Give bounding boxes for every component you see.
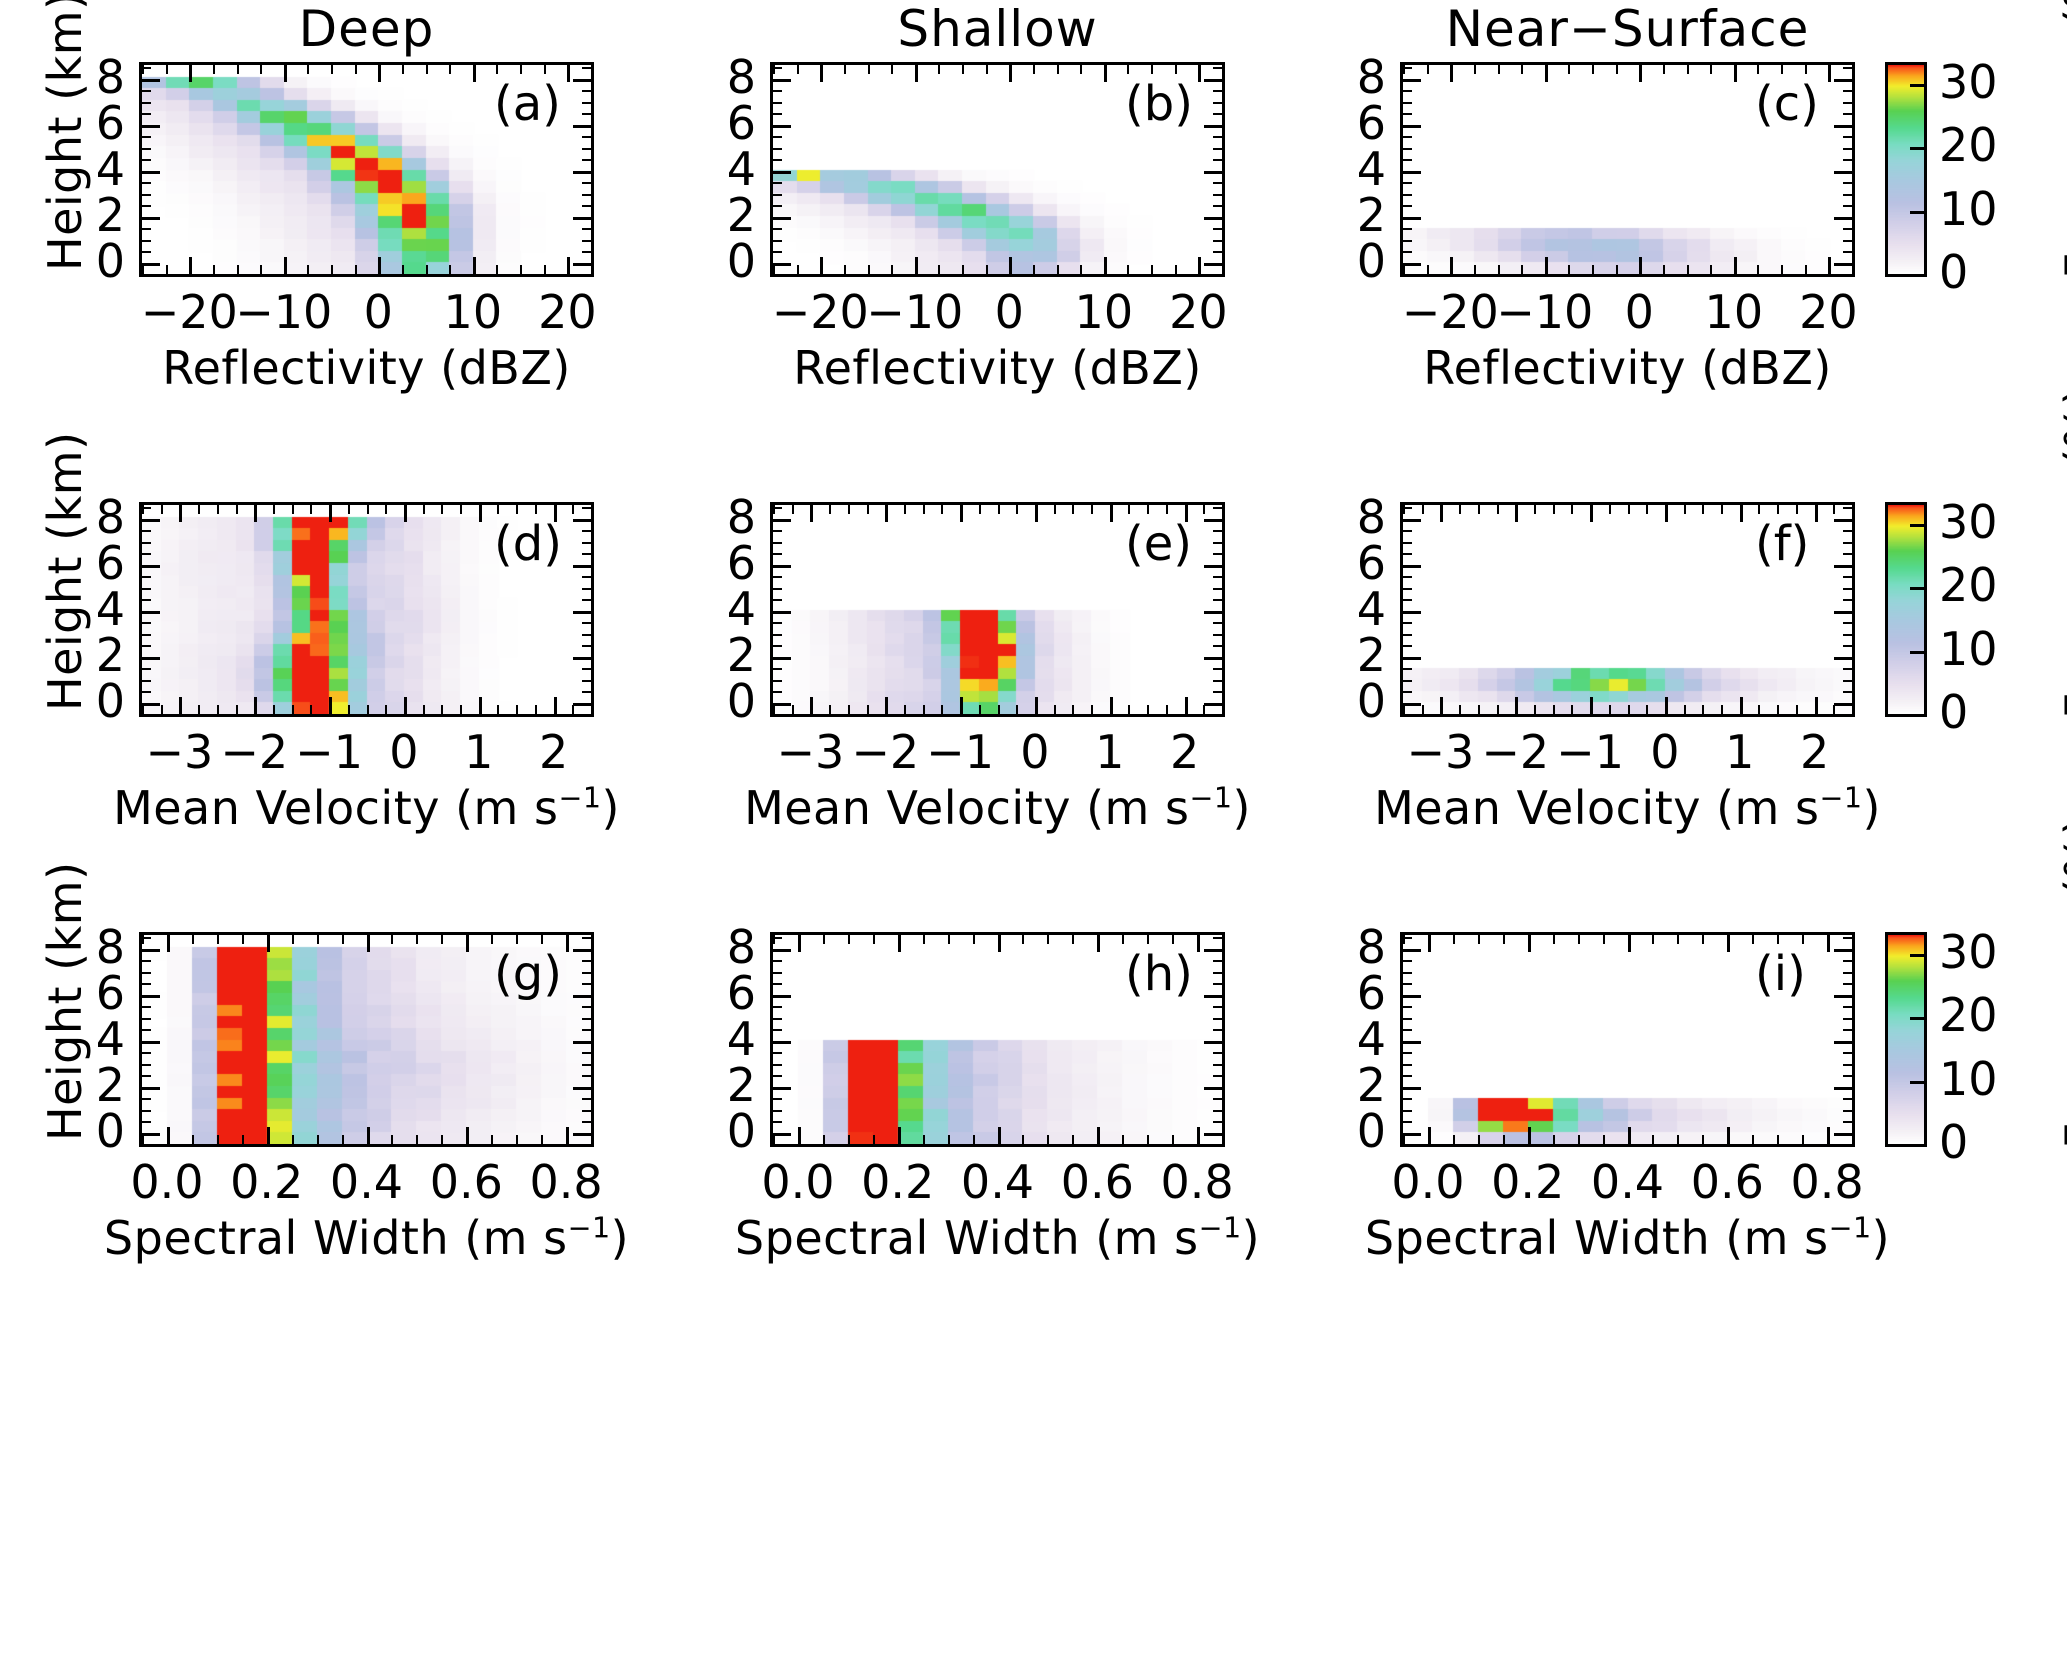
x-major-tick <box>898 1127 901 1144</box>
colorbar-tick-label: 20 <box>1939 988 1998 1042</box>
y-major-tick <box>1204 519 1222 522</box>
x-minor-tick <box>1757 265 1759 274</box>
y-major-tick <box>1403 171 1421 174</box>
x-minor-tick <box>1478 705 1480 714</box>
x-minor-tick <box>1172 1135 1174 1144</box>
x-major-tick <box>1515 505 1518 522</box>
y-minor-tick <box>1403 668 1412 670</box>
colorbar-gradient <box>1888 65 1924 274</box>
y-axis-label: Height (km) <box>38 861 92 1141</box>
y-major-tick <box>773 1087 791 1090</box>
x-major-tick <box>1097 935 1100 952</box>
column-title-shallow: Shallow <box>770 0 1225 58</box>
y-major-tick <box>573 565 591 568</box>
x-minor-tick <box>441 705 443 714</box>
y-minor-tick <box>582 1075 591 1077</box>
x-minor-tick <box>1603 1135 1605 1144</box>
x-major-tick <box>378 257 381 274</box>
colorbar <box>1885 62 1927 277</box>
panel-label-g: (g) <box>494 946 562 1002</box>
x-major-tick <box>1110 505 1113 522</box>
x-minor-tick <box>938 65 940 74</box>
x-minor-tick <box>848 705 850 714</box>
y-major-tick <box>573 217 591 220</box>
x-major-tick <box>284 257 287 274</box>
x-minor-tick <box>1128 705 1130 714</box>
x-axis-label: Reflectivity (dBZ) <box>1340 341 1915 395</box>
x-minor-tick <box>292 1135 294 1144</box>
x-minor-tick <box>541 1135 543 1144</box>
x-minor-tick <box>923 705 925 714</box>
x-minor-tick <box>142 705 144 714</box>
y-tick-label: 8 <box>696 920 756 974</box>
y-major-tick <box>773 1041 791 1044</box>
y-major-tick <box>1403 263 1421 266</box>
x-minor-tick <box>844 265 846 274</box>
colorbar-tick-label: 20 <box>1939 118 1998 172</box>
y-minor-tick <box>1843 983 1852 985</box>
x-major-tick <box>473 257 476 274</box>
y-minor-tick <box>1403 507 1412 509</box>
x-minor-tick <box>1702 505 1704 514</box>
y-major-tick <box>142 217 160 220</box>
y-major-tick <box>773 611 791 614</box>
y-minor-tick <box>582 960 591 962</box>
x-minor-tick <box>962 265 964 274</box>
y-minor-tick <box>1213 507 1222 509</box>
y-minor-tick <box>773 680 782 682</box>
y-minor-tick <box>773 228 782 230</box>
y-minor-tick <box>773 622 782 624</box>
y-minor-tick <box>1213 1052 1222 1054</box>
y-minor-tick <box>773 67 782 69</box>
y-minor-tick <box>142 983 151 985</box>
x-axis-label: Mean Velocity (m s−1) <box>710 781 1285 835</box>
y-minor-tick <box>582 67 591 69</box>
y-major-tick <box>573 949 591 952</box>
y-minor-tick <box>582 553 591 555</box>
y-minor-tick <box>1403 136 1412 138</box>
x-axis-label: Mean Velocity (m s−1) <box>1340 781 1915 835</box>
y-minor-tick <box>773 588 782 590</box>
y-minor-tick <box>582 1052 591 1054</box>
y-major-tick <box>1834 611 1852 614</box>
x-minor-tick <box>1166 505 1168 514</box>
y-minor-tick <box>1403 530 1412 532</box>
x-minor-tick <box>166 65 168 74</box>
panel-label-c: (c) <box>1755 76 1819 132</box>
colorbar-tick-label: 0 <box>1939 685 1968 739</box>
x-minor-tick <box>1503 1135 1505 1144</box>
y-minor-tick <box>773 194 782 196</box>
x-minor-tick <box>1151 265 1153 274</box>
y-minor-tick <box>1403 680 1412 682</box>
y-minor-tick <box>142 553 151 555</box>
y-minor-tick <box>1843 542 1852 544</box>
x-minor-tick <box>1474 65 1476 74</box>
y-minor-tick <box>1843 645 1852 647</box>
x-major-tick <box>885 505 888 522</box>
y-tick-label: 6 <box>696 536 756 590</box>
y-minor-tick <box>1213 668 1222 670</box>
y-minor-tick <box>1213 102 1222 104</box>
y-minor-tick <box>582 972 591 974</box>
y-tick-label: 2 <box>696 1058 756 1112</box>
x-minor-tick <box>1578 1135 1580 1144</box>
x-minor-tick <box>1578 935 1580 944</box>
x-minor-tick <box>402 265 404 274</box>
x-major-tick <box>1009 257 1012 274</box>
x-major-tick <box>1734 65 1737 82</box>
x-minor-tick <box>317 1135 319 1144</box>
y-tick-label: 8 <box>1326 50 1386 104</box>
x-major-tick <box>566 935 569 952</box>
y-major-tick <box>573 125 591 128</box>
y-minor-tick <box>1213 205 1222 207</box>
y-minor-tick <box>1403 542 1412 544</box>
y-minor-tick <box>582 1006 591 1008</box>
x-minor-tick <box>998 705 1000 714</box>
x-minor-tick <box>1796 505 1798 514</box>
column-title-nearsurface: Near−Surface <box>1400 0 1855 58</box>
y-major-tick <box>1834 1133 1852 1136</box>
y-minor-tick <box>773 634 782 636</box>
x-minor-tick <box>1603 935 1605 944</box>
y-minor-tick <box>773 1018 782 1020</box>
x-minor-tick <box>848 935 850 944</box>
y-major-tick <box>1204 1087 1222 1090</box>
x-minor-tick <box>891 265 893 274</box>
x-minor-tick <box>1677 1135 1679 1144</box>
y-minor-tick <box>1213 113 1222 115</box>
x-minor-tick <box>460 705 462 714</box>
x-minor-tick <box>516 935 518 944</box>
x-tick-label: 2 <box>1125 725 1245 779</box>
x-minor-tick <box>1478 505 1480 514</box>
y-tick-label: 4 <box>696 142 756 196</box>
y-major-tick <box>1204 1133 1222 1136</box>
y-minor-tick <box>1403 576 1412 578</box>
x-minor-tick <box>497 705 499 714</box>
y-minor-tick <box>1843 1121 1852 1123</box>
y-tick-label: 0 <box>696 674 756 728</box>
x-minor-tick <box>1710 265 1712 274</box>
y-minor-tick <box>1213 240 1222 242</box>
x-minor-tick <box>1022 935 1024 944</box>
y-minor-tick <box>142 1029 151 1031</box>
x-major-tick <box>1628 935 1631 952</box>
y-minor-tick <box>1403 240 1412 242</box>
y-minor-tick <box>1403 622 1412 624</box>
x-minor-tick <box>941 705 943 714</box>
x-minor-tick <box>1503 935 1505 944</box>
y-tick-label: 0 <box>696 1104 756 1158</box>
x-minor-tick <box>1016 705 1018 714</box>
y-tick-label: 6 <box>1326 536 1386 590</box>
y-major-tick <box>573 79 591 82</box>
y-minor-tick <box>1403 645 1412 647</box>
x-minor-tick <box>391 935 393 944</box>
y-minor-tick <box>773 148 782 150</box>
y-major-tick <box>142 657 160 660</box>
x-major-tick <box>998 1127 1001 1144</box>
x-minor-tick <box>1072 705 1074 714</box>
x-minor-tick <box>1498 265 1500 274</box>
panel-label-f: (f) <box>1755 516 1809 572</box>
y-minor-tick <box>582 668 591 670</box>
y-minor-tick <box>582 240 591 242</box>
x-minor-tick <box>217 1135 219 1144</box>
y-major-tick <box>1834 1041 1852 1044</box>
y-minor-tick <box>1403 1110 1412 1112</box>
x-minor-tick <box>1459 505 1461 514</box>
x-minor-tick <box>797 65 799 74</box>
x-minor-tick <box>923 935 925 944</box>
x-minor-tick <box>1175 265 1177 274</box>
x-tick-label: 20 <box>1138 285 1258 339</box>
x-minor-tick <box>792 505 794 514</box>
y-minor-tick <box>1843 1029 1852 1031</box>
y-major-tick <box>573 1041 591 1044</box>
y-minor-tick <box>773 1121 782 1123</box>
x-minor-tick <box>1147 705 1149 714</box>
y-minor-tick <box>1213 251 1222 253</box>
y-major-tick <box>1403 565 1421 568</box>
y-minor-tick <box>773 937 782 939</box>
y-minor-tick <box>773 1029 782 1031</box>
y-minor-tick <box>773 960 782 962</box>
x-axis-label: Spectral Width (m s−1) <box>710 1211 1285 1265</box>
y-minor-tick <box>1213 136 1222 138</box>
y-minor-tick <box>142 680 151 682</box>
y-minor-tick <box>1843 668 1852 670</box>
y-minor-tick <box>1403 194 1412 196</box>
y-minor-tick <box>582 1098 591 1100</box>
x-minor-tick <box>591 1135 593 1144</box>
y-major-tick <box>1834 519 1852 522</box>
x-minor-tick <box>979 705 981 714</box>
x-minor-tick <box>867 705 869 714</box>
x-minor-tick <box>1047 935 1049 944</box>
x-minor-tick <box>591 935 593 944</box>
x-minor-tick <box>1422 705 1424 714</box>
x-major-tick <box>254 697 257 714</box>
x-minor-tick <box>496 65 498 74</box>
x-major-tick <box>1097 1127 1100 1144</box>
x-minor-tick <box>1553 935 1555 944</box>
y-minor-tick <box>1213 1064 1222 1066</box>
x-minor-tick <box>868 65 870 74</box>
x-minor-tick <box>904 705 906 714</box>
y-minor-tick <box>773 691 782 693</box>
y-tick-label: 2 <box>696 188 756 242</box>
x-minor-tick <box>385 505 387 514</box>
x-minor-tick <box>1203 505 1205 514</box>
x-minor-tick <box>1752 935 1754 944</box>
x-minor-tick <box>535 705 537 714</box>
y-major-tick <box>1403 703 1421 706</box>
x-minor-tick <box>273 705 275 714</box>
x-minor-tick <box>161 505 163 514</box>
x-major-tick <box>1198 257 1201 274</box>
y-major-tick <box>142 565 160 568</box>
y-minor-tick <box>1843 194 1852 196</box>
y-minor-tick <box>1213 1075 1222 1077</box>
x-tick-label: 2 <box>494 725 614 779</box>
x-minor-tick <box>1521 265 1523 274</box>
y-tick-label: 2 <box>1326 1058 1386 1112</box>
y-minor-tick <box>773 1098 782 1100</box>
x-minor-tick <box>242 935 244 944</box>
x-major-tick <box>1450 65 1453 82</box>
y-minor-tick <box>582 542 591 544</box>
colorbar-tick-label: 30 <box>1939 925 1998 979</box>
y-minor-tick <box>142 691 151 693</box>
y-minor-tick <box>1213 182 1222 184</box>
y-minor-tick <box>1843 67 1852 69</box>
x-major-tick <box>1828 257 1831 274</box>
y-minor-tick <box>1843 182 1852 184</box>
x-minor-tick <box>1033 265 1035 274</box>
x-major-tick <box>1197 935 1200 952</box>
panel-label-a: (a) <box>494 76 561 132</box>
y-minor-tick <box>1843 588 1852 590</box>
x-major-tick <box>1827 935 1830 952</box>
x-minor-tick <box>591 705 593 714</box>
y-major-tick <box>142 1133 160 1136</box>
y-minor-tick <box>1213 553 1222 555</box>
x-major-tick <box>1104 257 1107 274</box>
y-major-tick <box>1403 519 1421 522</box>
x-minor-tick <box>1646 505 1648 514</box>
x-major-tick <box>1815 697 1818 714</box>
x-major-tick <box>820 65 823 82</box>
x-minor-tick <box>986 265 988 274</box>
y-major-tick <box>1204 565 1222 568</box>
y-minor-tick <box>1213 588 1222 590</box>
x-minor-tick <box>1802 935 1804 944</box>
y-major-tick <box>1834 263 1852 266</box>
x-tick-label: 0.8 <box>506 1155 626 1209</box>
y-minor-tick <box>1403 691 1412 693</box>
x-major-tick <box>167 1127 170 1144</box>
y-minor-tick <box>773 983 782 985</box>
y-major-tick <box>573 657 591 660</box>
y-minor-tick <box>773 113 782 115</box>
y-minor-tick <box>142 194 151 196</box>
y-minor-tick <box>1213 576 1222 578</box>
y-major-tick <box>142 949 160 952</box>
y-minor-tick <box>1403 102 1412 104</box>
y-minor-tick <box>582 1018 591 1020</box>
y-minor-tick <box>1213 228 1222 230</box>
x-major-tick <box>798 1127 801 1144</box>
x-major-tick <box>378 65 381 82</box>
x-minor-tick <box>1796 705 1798 714</box>
y-major-tick <box>1834 657 1852 660</box>
y-major-tick <box>773 565 791 568</box>
x-axis-label: Spectral Width (m s−1) <box>1340 1211 1915 1265</box>
x-minor-tick <box>1072 505 1074 514</box>
x-major-tick <box>466 935 469 952</box>
x-minor-tick <box>1646 705 1648 714</box>
y-major-tick <box>1403 657 1421 660</box>
x-minor-tick <box>391 1135 393 1144</box>
y-major-tick <box>773 949 791 952</box>
x-minor-tick <box>307 265 309 274</box>
y-minor-tick <box>1403 148 1412 150</box>
y-minor-tick <box>1843 251 1852 253</box>
y-minor-tick <box>1403 1075 1412 1077</box>
y-minor-tick <box>1213 622 1222 624</box>
y-minor-tick <box>773 530 782 532</box>
x-minor-tick <box>1663 265 1665 274</box>
x-minor-tick <box>1427 65 1429 74</box>
y-major-tick <box>1403 1041 1421 1044</box>
y-major-tick <box>573 519 591 522</box>
x-minor-tick <box>1758 705 1760 714</box>
x-major-tick <box>1185 697 1188 714</box>
y-major-tick <box>773 171 791 174</box>
y-minor-tick <box>1843 1006 1852 1008</box>
y-tick-label: 8 <box>1326 920 1386 974</box>
x-major-tick <box>1528 1127 1531 1144</box>
x-minor-tick <box>1592 265 1594 274</box>
y-axis-label: Height (km) <box>38 431 92 711</box>
x-major-tick <box>189 257 192 274</box>
y-minor-tick <box>142 588 151 590</box>
x-major-tick <box>567 257 570 274</box>
colorbar <box>1885 502 1927 717</box>
y-minor-tick <box>1213 1029 1222 1031</box>
x-minor-tick <box>260 65 262 74</box>
x-minor-tick <box>1172 935 1174 944</box>
x-minor-tick <box>1777 505 1779 514</box>
y-tick-label: 0 <box>696 234 756 288</box>
y-minor-tick <box>142 90 151 92</box>
y-minor-tick <box>1403 634 1412 636</box>
x-minor-tick <box>1571 705 1573 714</box>
y-minor-tick <box>1843 228 1852 230</box>
x-minor-tick <box>1222 1135 1224 1144</box>
y-minor-tick <box>1403 1121 1412 1123</box>
x-minor-tick <box>331 65 333 74</box>
colorbar-label: Frequency (%) <box>2055 0 2067 279</box>
x-minor-tick <box>948 1135 950 1144</box>
x-axis-label: Mean Velocity (m s−1) <box>79 781 654 835</box>
y-minor-tick <box>1403 1006 1412 1008</box>
x-minor-tick <box>541 935 543 944</box>
y-minor-tick <box>142 251 151 253</box>
x-minor-tick <box>426 265 428 274</box>
y-major-tick <box>1204 995 1222 998</box>
x-major-tick <box>473 65 476 82</box>
x-minor-tick <box>1122 935 1124 944</box>
x-minor-tick <box>1222 705 1224 714</box>
y-major-tick <box>573 171 591 174</box>
x-minor-tick <box>1427 265 1429 274</box>
x-minor-tick <box>1072 1135 1074 1144</box>
x-minor-tick <box>1047 1135 1049 1144</box>
y-minor-tick <box>582 1064 591 1066</box>
colorbar-tick <box>1910 1081 1924 1084</box>
x-minor-tick <box>516 1135 518 1144</box>
y-minor-tick <box>1843 622 1852 624</box>
y-minor-tick <box>773 205 782 207</box>
x-major-tick <box>189 65 192 82</box>
x-major-tick <box>1740 505 1743 522</box>
y-minor-tick <box>142 1098 151 1100</box>
